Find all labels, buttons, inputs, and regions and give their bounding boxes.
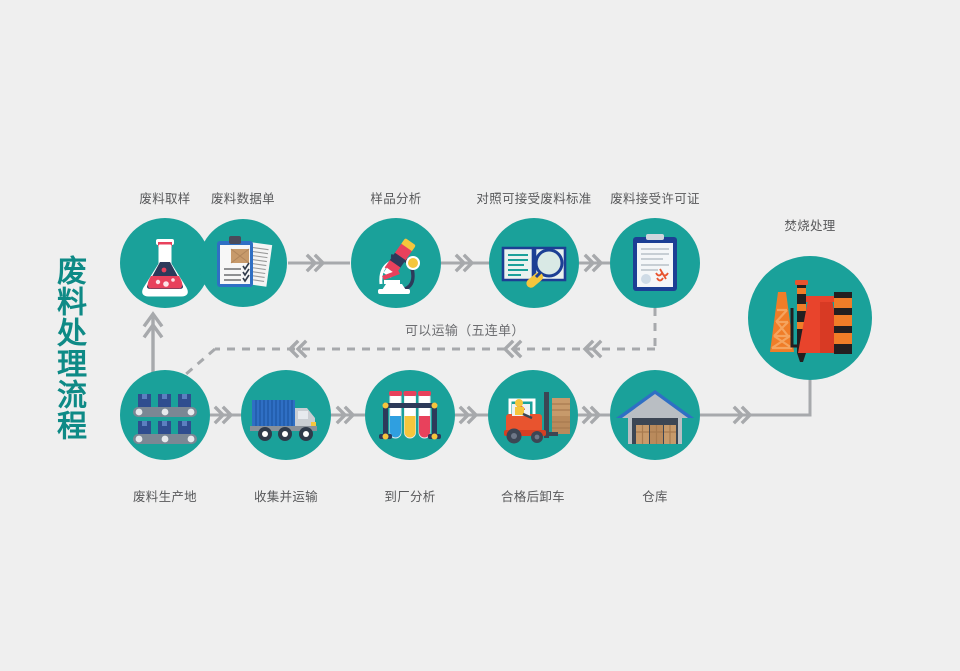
book-magnifier-icon [489,218,579,308]
flask-icon [120,218,210,308]
truck-icon [241,370,331,460]
waste-data-sheet-circle[interactable] [199,219,287,307]
standard-check-circle[interactable] [489,218,579,308]
waste-origin-circle[interactable] [120,370,210,460]
sample-analysis-label: 样品分析 [346,188,446,207]
waste-sampling-circle[interactable] [120,218,210,308]
collect-transport-circle[interactable] [241,370,331,460]
connector-datasheet-to-analysis [288,256,350,270]
unload-after-pass-circle[interactable] [488,370,578,460]
connector-origin-to-truck [210,408,241,422]
waste-origin-label: 废料生产地 [115,486,215,505]
connector-unload-to-warehouse [578,408,610,422]
incinerator-icon [748,256,872,380]
acceptance-permit-label: 废料接受许可证 [605,188,705,207]
warehouse-icon [610,370,700,460]
connector-analysis-to-standard [441,256,489,270]
warehouse-label: 仓库 [605,486,705,505]
waste-data-sheet-label: 废料数据单 [193,188,293,207]
incineration-circle[interactable] [748,256,872,380]
test-tubes-icon [365,370,455,460]
acceptance-permit-circle[interactable] [610,218,700,308]
unload-after-pass-label: 合格后卸车 [483,486,583,505]
connector-warehouse-to-incineration [700,380,810,422]
incineration-label: 焚烧处理 [760,215,860,234]
conveyor-icon [120,370,210,460]
connector-plant-analysis-to-unload [455,408,488,422]
forklift-icon [488,370,578,460]
connector-standard-to-permit [579,256,610,270]
plant-analysis-label: 到厂分析 [360,486,460,505]
certificate-icon [610,218,700,308]
microscope-icon [351,218,441,308]
sample-analysis-circle[interactable] [351,218,441,308]
clipboard-icon [199,219,287,307]
collect-transport-label: 收集并运输 [236,486,336,505]
connector-truck-to-plant-analysis [331,408,365,422]
plant-analysis-circle[interactable] [365,370,455,460]
transport-note-label: 可以运输（五连单） [405,320,525,339]
diagram-canvas: 废料处理流程 [0,0,960,671]
warehouse-circle[interactable] [610,370,700,460]
connector-origin-up-to-sampling [145,314,161,374]
standard-check-label: 对照可接受废料标准 [464,188,604,207]
